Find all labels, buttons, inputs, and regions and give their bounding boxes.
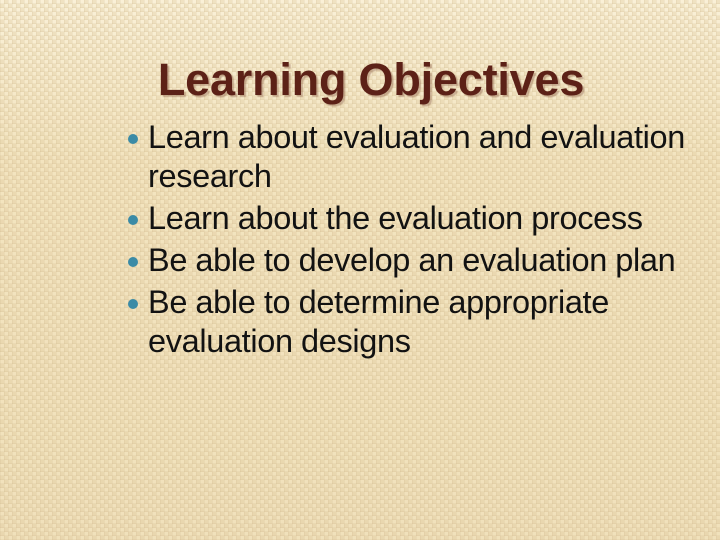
learning-objectives-list: Learn about evaluation and evaluation re… bbox=[122, 118, 706, 364]
bullet-dot-icon bbox=[128, 215, 138, 225]
list-item: Be able to develop an evaluation plan bbox=[122, 241, 706, 280]
bullet-dot-icon bbox=[128, 134, 138, 144]
page-title: Learning Objectives bbox=[0, 52, 720, 108]
list-item-label: Be able to determine appropriate evaluat… bbox=[148, 283, 706, 361]
slide-canvas: Learning Objectives Learn about evaluati… bbox=[0, 0, 720, 540]
list-item: Be able to determine appropriate evaluat… bbox=[122, 283, 706, 361]
list-item: Learn about evaluation and evaluation re… bbox=[122, 118, 706, 196]
bullet-dot-icon bbox=[128, 257, 138, 267]
list-item: Learn about the evaluation process bbox=[122, 199, 706, 238]
bullet-dot-icon bbox=[128, 299, 138, 309]
list-item-label: Be able to develop an evaluation plan bbox=[148, 241, 706, 280]
list-item-label: Learn about the evaluation process bbox=[148, 199, 706, 238]
list-item-label: Learn about evaluation and evaluation re… bbox=[148, 118, 706, 196]
